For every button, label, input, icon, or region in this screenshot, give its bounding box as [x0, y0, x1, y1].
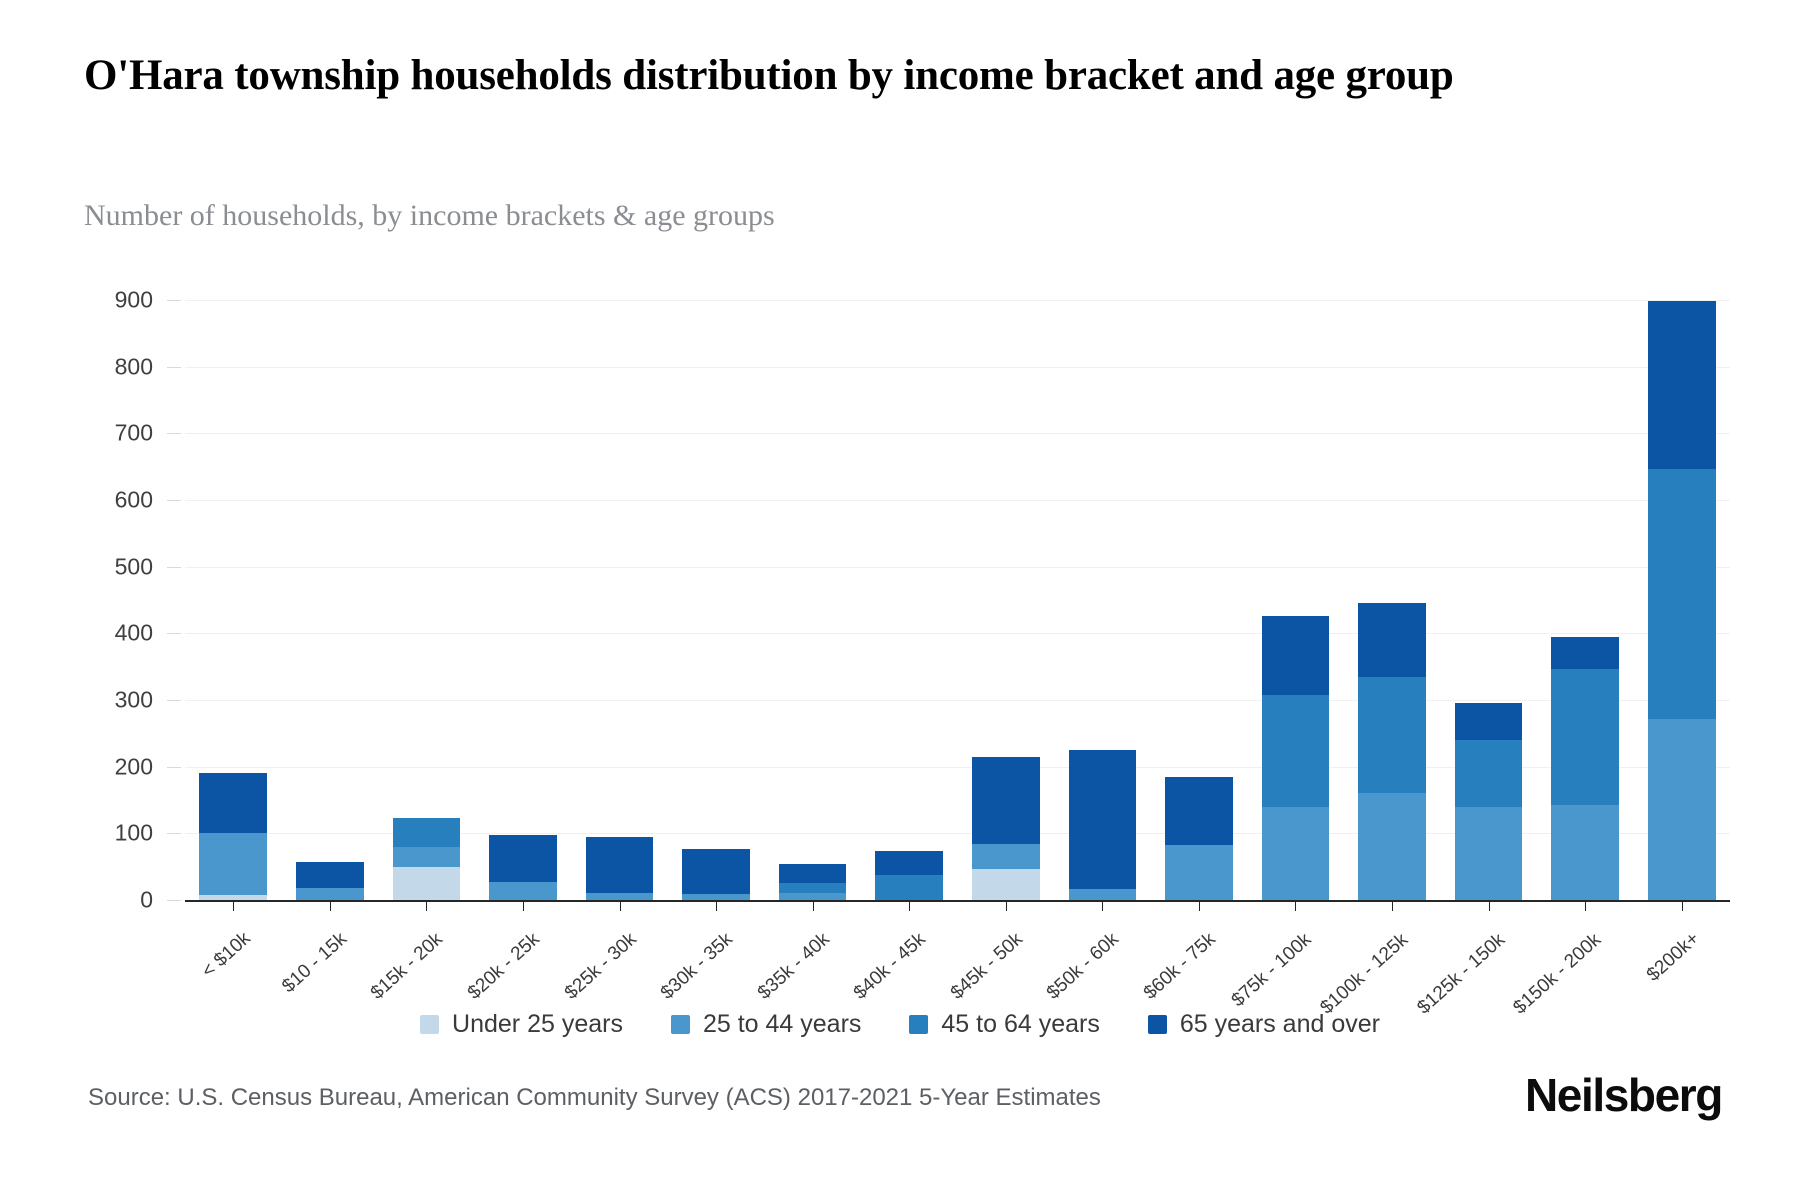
legend-swatch-icon	[909, 1015, 928, 1034]
x-axis-tick-label: $200k+	[1642, 928, 1703, 986]
y-axis-tick	[167, 300, 181, 301]
y-axis-tick	[167, 500, 181, 501]
y-axis-tick-label: 600	[73, 487, 153, 514]
x-axis-tick-label: $45k - 50k	[947, 929, 1028, 1005]
legend-item[interactable]: 45 to 64 years	[909, 1010, 1099, 1039]
x-axis-tick-label: $125k - 150k	[1413, 929, 1509, 1019]
x-axis-tick	[1199, 902, 1200, 911]
bar-segment[interactable]	[489, 882, 557, 900]
y-axis-tick	[167, 833, 181, 834]
bar-segment[interactable]	[586, 893, 654, 900]
x-axis-tick-label: $20k - 25k	[464, 929, 545, 1005]
x-axis-tick	[523, 902, 524, 911]
bar-segment[interactable]	[1455, 740, 1523, 807]
y-axis-tick	[167, 567, 181, 568]
legend-label: 25 to 44 years	[703, 1010, 861, 1039]
bar-segment[interactable]	[1551, 669, 1619, 805]
x-axis-tick	[813, 902, 814, 911]
legend-item[interactable]: 25 to 44 years	[671, 1010, 861, 1039]
y-axis-tick-label: 200	[73, 753, 153, 780]
y-axis-tick	[167, 900, 181, 901]
legend-swatch-icon	[1148, 1015, 1167, 1034]
y-axis-tick	[167, 633, 181, 634]
x-axis-tick	[620, 902, 621, 911]
bar-segment[interactable]	[1069, 889, 1137, 900]
bar-segment[interactable]	[1165, 777, 1233, 844]
y-axis-tick-label: 100	[73, 820, 153, 847]
x-axis-tick	[1489, 902, 1490, 911]
bar-segment[interactable]	[586, 837, 654, 894]
x-axis-tick	[1295, 902, 1296, 911]
bar-group[interactable]	[296, 300, 364, 900]
x-axis-tick-label: $35k - 40k	[753, 929, 834, 1005]
bar-group[interactable]	[682, 300, 750, 900]
source-note: Source: U.S. Census Bureau, American Com…	[88, 1084, 1101, 1112]
legend: Under 25 years25 to 44 years45 to 64 yea…	[0, 1010, 1800, 1039]
chart-page: O'Hara township households distribution …	[0, 0, 1800, 1200]
x-axis-tick	[233, 902, 234, 911]
y-axis-tick	[167, 433, 181, 434]
bar-segment[interactable]	[875, 851, 943, 874]
bar-segment[interactable]	[1551, 637, 1619, 670]
bar-segment[interactable]	[972, 869, 1040, 900]
bar-group[interactable]	[489, 300, 557, 900]
x-axis-tick-label: $75k - 100k	[1228, 929, 1317, 1012]
legend-item[interactable]: 65 years and over	[1148, 1010, 1380, 1039]
bar-group[interactable]	[1262, 300, 1330, 900]
bar-segment[interactable]	[199, 833, 267, 895]
bar-group[interactable]	[972, 300, 1040, 900]
bar-segment[interactable]	[1358, 793, 1426, 900]
x-axis-tick	[1392, 902, 1393, 911]
bar-segment[interactable]	[682, 849, 750, 894]
bar-segment[interactable]	[1648, 301, 1716, 468]
page-title: O'Hara township households distribution …	[84, 48, 1684, 103]
x-axis-tick-label: $15k - 20k	[367, 929, 448, 1005]
brand-logo: Neilsberg	[1525, 1068, 1722, 1122]
x-axis-tick-label: $60k - 75k	[1140, 929, 1221, 1005]
bar-segment[interactable]	[779, 893, 847, 900]
x-axis-tick-label: $150k - 200k	[1510, 929, 1606, 1019]
y-axis-tick-label: 400	[73, 620, 153, 647]
x-axis-tick	[1006, 902, 1007, 911]
legend-label: 45 to 64 years	[941, 1010, 1099, 1039]
bar-segment[interactable]	[1648, 469, 1716, 719]
bar-segment[interactable]	[1262, 616, 1330, 695]
x-axis-tick	[1585, 902, 1586, 911]
bar-segment[interactable]	[393, 867, 461, 900]
y-axis-tick	[167, 367, 181, 368]
x-axis-tick-label: $50k - 60k	[1043, 929, 1124, 1005]
bar-group[interactable]	[1551, 300, 1619, 900]
bar-segment[interactable]	[1358, 603, 1426, 678]
x-axis-tick-label: $30k - 35k	[657, 929, 738, 1005]
bar-segment[interactable]	[489, 835, 557, 882]
x-axis-tick-label: < $10k	[198, 928, 256, 983]
bar-segment[interactable]	[393, 847, 461, 867]
y-axis-tick-label: 500	[73, 553, 153, 580]
bar-segment[interactable]	[972, 844, 1040, 869]
bar-segment[interactable]	[296, 888, 364, 900]
bar-segment[interactable]	[1358, 677, 1426, 792]
bar-group[interactable]	[393, 300, 461, 900]
x-axis-tick	[330, 902, 331, 911]
bar-segment[interactable]	[1455, 807, 1523, 900]
bar-group[interactable]	[1455, 300, 1523, 900]
x-axis-tick-label: $25k - 30k	[560, 929, 641, 1005]
legend-swatch-icon	[671, 1015, 690, 1034]
y-axis-tick-label: 700	[73, 420, 153, 447]
y-axis-tick-label: 300	[73, 687, 153, 714]
y-axis-tick-label: 0	[73, 887, 153, 914]
bar-segment[interactable]	[393, 818, 461, 847]
bar-segment[interactable]	[875, 875, 943, 900]
bar-segment[interactable]	[1165, 845, 1233, 900]
bar-group[interactable]	[1648, 300, 1716, 900]
bar-segment[interactable]	[199, 773, 267, 834]
x-axis-line	[185, 900, 1730, 902]
x-axis-tick-label: $100k - 125k	[1316, 929, 1412, 1019]
bar-segment[interactable]	[1262, 807, 1330, 900]
legend-label: 65 years and over	[1180, 1010, 1380, 1039]
bar-group[interactable]	[779, 300, 847, 900]
bar-group[interactable]	[1165, 300, 1233, 900]
bar-group[interactable]	[586, 300, 654, 900]
legend-swatch-icon	[420, 1015, 439, 1034]
chart-subtitle: Number of households, by income brackets…	[84, 198, 1484, 234]
bar-segment[interactable]	[779, 864, 847, 883]
legend-item[interactable]: Under 25 years	[420, 1010, 623, 1039]
bar-segment[interactable]	[1551, 805, 1619, 900]
y-axis-tick-label: 900	[73, 287, 153, 314]
bar-segment[interactable]	[1648, 719, 1716, 900]
legend-label: Under 25 years	[452, 1010, 623, 1039]
x-axis-tick	[909, 902, 910, 911]
y-axis-tick	[167, 767, 181, 768]
bar-segment[interactable]	[296, 862, 364, 888]
x-axis-tick	[1682, 902, 1683, 911]
plot-area: 0100200300400500600700800900 < $10k$10 -…	[185, 300, 1730, 900]
bar-group[interactable]	[1069, 300, 1137, 900]
y-axis-tick	[167, 700, 181, 701]
y-axis-tick-label: 800	[73, 353, 153, 380]
bar-segment[interactable]	[1455, 703, 1523, 740]
bar-segment[interactable]	[779, 883, 847, 894]
bar-group[interactable]	[1358, 300, 1426, 900]
bar-segment[interactable]	[1262, 695, 1330, 806]
x-axis-tick	[426, 902, 427, 911]
bar-segment[interactable]	[1069, 750, 1137, 889]
bar-segment[interactable]	[972, 757, 1040, 844]
x-axis-tick	[716, 902, 717, 911]
x-axis-tick-label: $40k - 45k	[850, 929, 931, 1005]
x-axis-tick	[1102, 902, 1103, 911]
bar-group[interactable]	[199, 300, 267, 900]
bar-group[interactable]	[875, 300, 943, 900]
x-axis-tick-label: $10 - 15k	[278, 929, 352, 998]
